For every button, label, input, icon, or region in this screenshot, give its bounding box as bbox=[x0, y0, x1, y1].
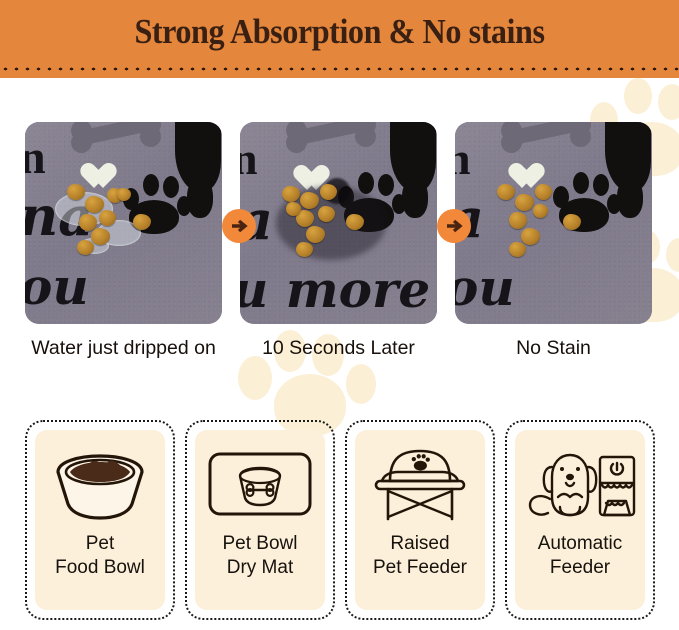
demo-caption-2-text: 10 Seconds Later bbox=[262, 337, 415, 359]
card-label-pet-bowl-dry-mat: Pet Bowl Dry Mat bbox=[221, 532, 300, 580]
bone-knob bbox=[71, 132, 92, 153]
demo-caption-1-text: Water just dripped on bbox=[31, 337, 216, 359]
card-label-line2: Pet Feeder bbox=[373, 556, 467, 580]
card-label-line1: Pet Bowl bbox=[223, 532, 298, 556]
card-label-raised-pet-feeder: Raised Pet Feeder bbox=[371, 532, 469, 580]
automatic-feeder-icon bbox=[522, 436, 638, 532]
paw-print-graphic bbox=[551, 172, 615, 234]
card-raised-pet-feeder[interactable]: Raised Pet Feeder bbox=[345, 420, 495, 620]
demo-photo-water-dripped: n na ou more bbox=[25, 122, 222, 324]
card-label-line2: Feeder bbox=[538, 556, 622, 580]
card-label-automatic-feeder: Automatic Feeder bbox=[536, 532, 624, 580]
bone-knob bbox=[286, 132, 307, 153]
heart-graphic bbox=[87, 164, 117, 191]
mat-words-ou-more: ou more bbox=[455, 258, 652, 324]
card-label-line1: Pet bbox=[55, 532, 145, 556]
cat-silhouette bbox=[402, 178, 428, 218]
demo-caption-3: No Stain bbox=[455, 336, 652, 361]
arrow-right-icon bbox=[222, 209, 256, 243]
demo-step-1: n na ou more bbox=[25, 122, 222, 324]
demo-caption-3-text: No Stain bbox=[516, 337, 591, 359]
demo-photo-no-stain: n a ou more bbox=[455, 122, 652, 324]
card-label-pet-food-bowl: Pet Food Bowl bbox=[53, 532, 147, 580]
card-label-line1: Raised bbox=[373, 532, 467, 556]
absorption-demo-strip: n na ou more bbox=[0, 78, 679, 388]
header-dotted-divider bbox=[0, 63, 679, 71]
mat-letter-n: n bbox=[240, 132, 258, 185]
mat-letter-n: n bbox=[455, 132, 471, 185]
mat-words-u-more: u more bbox=[240, 260, 430, 319]
header-banner: Strong Absorption & No stains bbox=[0, 0, 679, 78]
use-case-cards: Pet Food Bowl Pet Bowl bbox=[0, 415, 679, 630]
arrow-right-icon bbox=[437, 209, 471, 243]
bone-knob bbox=[570, 126, 591, 147]
card-label-line2: Dry Mat bbox=[223, 556, 298, 580]
raised-pet-feeder-icon bbox=[364, 436, 476, 532]
card-label-line1: Automatic bbox=[538, 532, 622, 556]
card-inner: Raised Pet Feeder bbox=[355, 430, 485, 610]
bone-knob bbox=[501, 132, 522, 153]
demo-caption-1: Water just dripped on bbox=[25, 336, 222, 361]
bone-knob bbox=[355, 126, 376, 147]
mat-words-ou-more: ou more bbox=[25, 257, 222, 324]
pet-bowl-dry-mat-icon bbox=[204, 436, 316, 532]
demo-photo-ten-seconds: n a u more bbox=[240, 122, 437, 324]
card-label-line2: Food Bowl bbox=[55, 556, 145, 580]
demo-step-2: n a u more 10 S bbox=[240, 122, 437, 324]
demo-caption-2: 10 Seconds Later bbox=[240, 336, 437, 361]
demo-step-3: n a ou more No Stain bbox=[455, 122, 652, 324]
cat-silhouette bbox=[617, 178, 643, 218]
card-inner: Pet Food Bowl bbox=[35, 430, 165, 610]
card-pet-food-bowl[interactable]: Pet Food Bowl bbox=[25, 420, 175, 620]
cat-silhouette bbox=[187, 178, 213, 218]
pet-food-bowl-icon bbox=[44, 436, 156, 532]
card-inner: Pet Bowl Dry Mat bbox=[195, 430, 325, 610]
card-pet-bowl-dry-mat[interactable]: Pet Bowl Dry Mat bbox=[185, 420, 335, 620]
mat-letter-n: n bbox=[25, 130, 46, 185]
bone-knob bbox=[140, 126, 161, 147]
card-inner: Automatic Feeder bbox=[515, 430, 645, 610]
card-automatic-feeder[interactable]: Automatic Feeder bbox=[505, 420, 655, 620]
page-title: Strong Absorption & No stains bbox=[27, 12, 652, 52]
